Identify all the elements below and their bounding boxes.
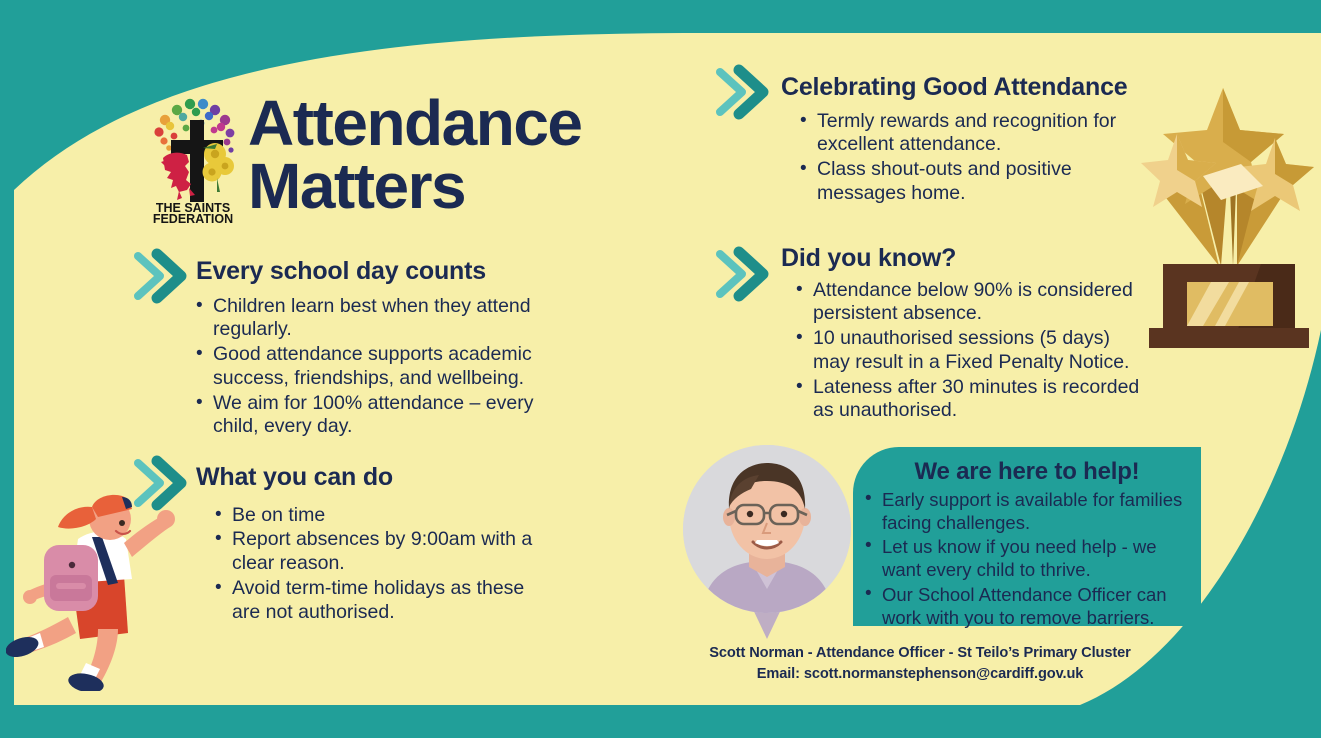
page-title: Attendance Matters <box>248 92 708 217</box>
double-chevron-icon <box>715 64 777 120</box>
list-item: 10 unauthorised sessions (5 days) may re… <box>796 327 1146 375</box>
footer-contact: Scott Norman - Attendance Officer - St T… <box>640 643 1200 685</box>
running-schoolgirl-illustration <box>6 487 188 691</box>
help-panel-heading: We are here to help! <box>853 458 1201 486</box>
double-chevron-icon <box>133 248 195 304</box>
section-what-you-can-do: What you can do Be on time Report absenc… <box>196 464 546 625</box>
list-item: Let us know if you need help - we want e… <box>865 535 1193 581</box>
list-item: Good attendance supports academic succes… <box>196 343 561 391</box>
logo-line2: FEDERATION <box>153 212 233 223</box>
section-bullet-list: Attendance below 90% is considered persi… <box>781 279 1146 424</box>
list-item: Children learn best when they attend reg… <box>196 295 561 343</box>
list-item: Be on time <box>215 504 546 528</box>
trophy-icon <box>1141 76 1317 348</box>
section-did-you-know: Did you know? Attendance below 90% is co… <box>781 245 1146 424</box>
list-item: Our School Attendance Officer can work w… <box>865 583 1193 629</box>
we-are-here-to-help-panel: We are here to help! Early support is av… <box>853 447 1201 626</box>
list-item: We aim for 100% attendance – every child… <box>196 392 561 440</box>
attendance-matters-poster: THE SAINTS FEDERATION Attendance Matters… <box>0 0 1321 738</box>
list-item: Class shout-outs and positive messages h… <box>800 158 1141 206</box>
list-item: Avoid term-time holidays as these are no… <box>215 577 546 625</box>
title-line-1: Attendance <box>248 92 708 155</box>
attendance-officer-portrait <box>681 443 853 643</box>
section-bullet-list: Be on time Report absences by 9:00am wit… <box>196 504 546 625</box>
list-item: Early support is available for families … <box>865 488 1193 534</box>
list-item: Report absences by 9:00am with a clear r… <box>215 528 546 576</box>
list-item: Lateness after 30 minutes is recorded as… <box>796 376 1146 424</box>
section-bullet-list: Children learn best when they attend reg… <box>196 295 561 440</box>
section-every-school-day-counts: Every school day counts Children learn b… <box>196 258 561 440</box>
double-chevron-icon <box>715 246 777 302</box>
section-heading: Did you know? <box>781 245 1146 273</box>
saints-federation-logo: THE SAINTS FEDERATION <box>143 88 243 223</box>
section-heading: Celebrating Good Attendance <box>781 74 1141 102</box>
title-line-2: Matters <box>248 155 708 218</box>
list-item: Termly rewards and recognition for excel… <box>800 110 1141 158</box>
section-bullet-list: Termly rewards and recognition for excel… <box>781 110 1141 206</box>
footer-line-1: Scott Norman - Attendance Officer - St T… <box>640 643 1200 664</box>
list-item: Attendance below 90% is considered persi… <box>796 279 1146 327</box>
footer-line-2: Email: scott.normanstephenson@cardiff.go… <box>640 664 1200 685</box>
help-bullet-list: Early support is available for families … <box>853 488 1201 629</box>
section-celebrating-good-attendance: Celebrating Good Attendance Termly rewar… <box>781 74 1141 207</box>
section-heading: Every school day counts <box>196 258 561 286</box>
section-heading: What you can do <box>196 464 546 492</box>
